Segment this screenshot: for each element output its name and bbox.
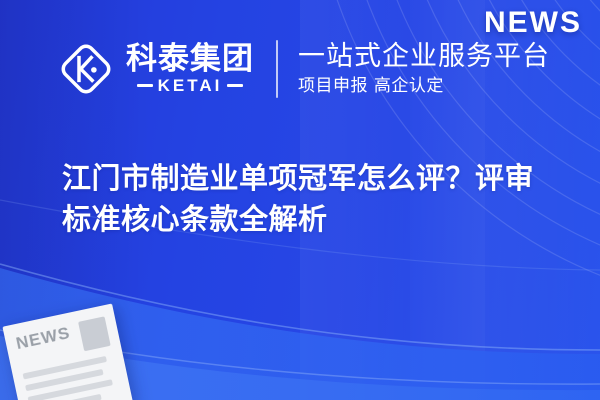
banner-header: 科泰集团 KETAI 一站式企业服务平台 项目申报 高企认定	[58, 40, 550, 98]
ketai-kp-diamond-logo-icon	[58, 41, 114, 97]
brand-name-en: KETAI	[158, 77, 223, 94]
newspaper-thumbnail	[78, 316, 111, 351]
newspaper-masthead: NEWS	[14, 324, 71, 352]
vertical-divider	[276, 40, 278, 98]
brand-wordmark: 科泰集团 KETAI	[126, 44, 254, 95]
brand-name-cn: 科泰集团	[126, 44, 254, 76]
tagline-block: 一站式企业服务平台 项目申报 高企认定	[298, 42, 550, 97]
brand-logo[interactable]: 科泰集团 KETAI	[58, 41, 254, 97]
tagline-sub: 项目申报 高企认定	[298, 77, 550, 97]
news-wordmark: NEWS	[484, 6, 582, 40]
dash-right-icon	[227, 84, 243, 87]
newspaper-graphic: NEWS	[2, 303, 133, 400]
newspaper-text-lines	[23, 354, 124, 400]
headline-text: 江门市制造业单项冠军怎么评？评审标准核心条款全解析	[62, 158, 562, 240]
tagline-main: 一站式企业服务平台	[298, 42, 550, 72]
news-banner: NEWS 科泰集团 KETAI	[0, 0, 600, 400]
brand-name-en-row: KETAI	[126, 77, 254, 94]
dash-left-icon	[137, 84, 153, 87]
newspaper-sheet: NEWS	[2, 303, 133, 400]
